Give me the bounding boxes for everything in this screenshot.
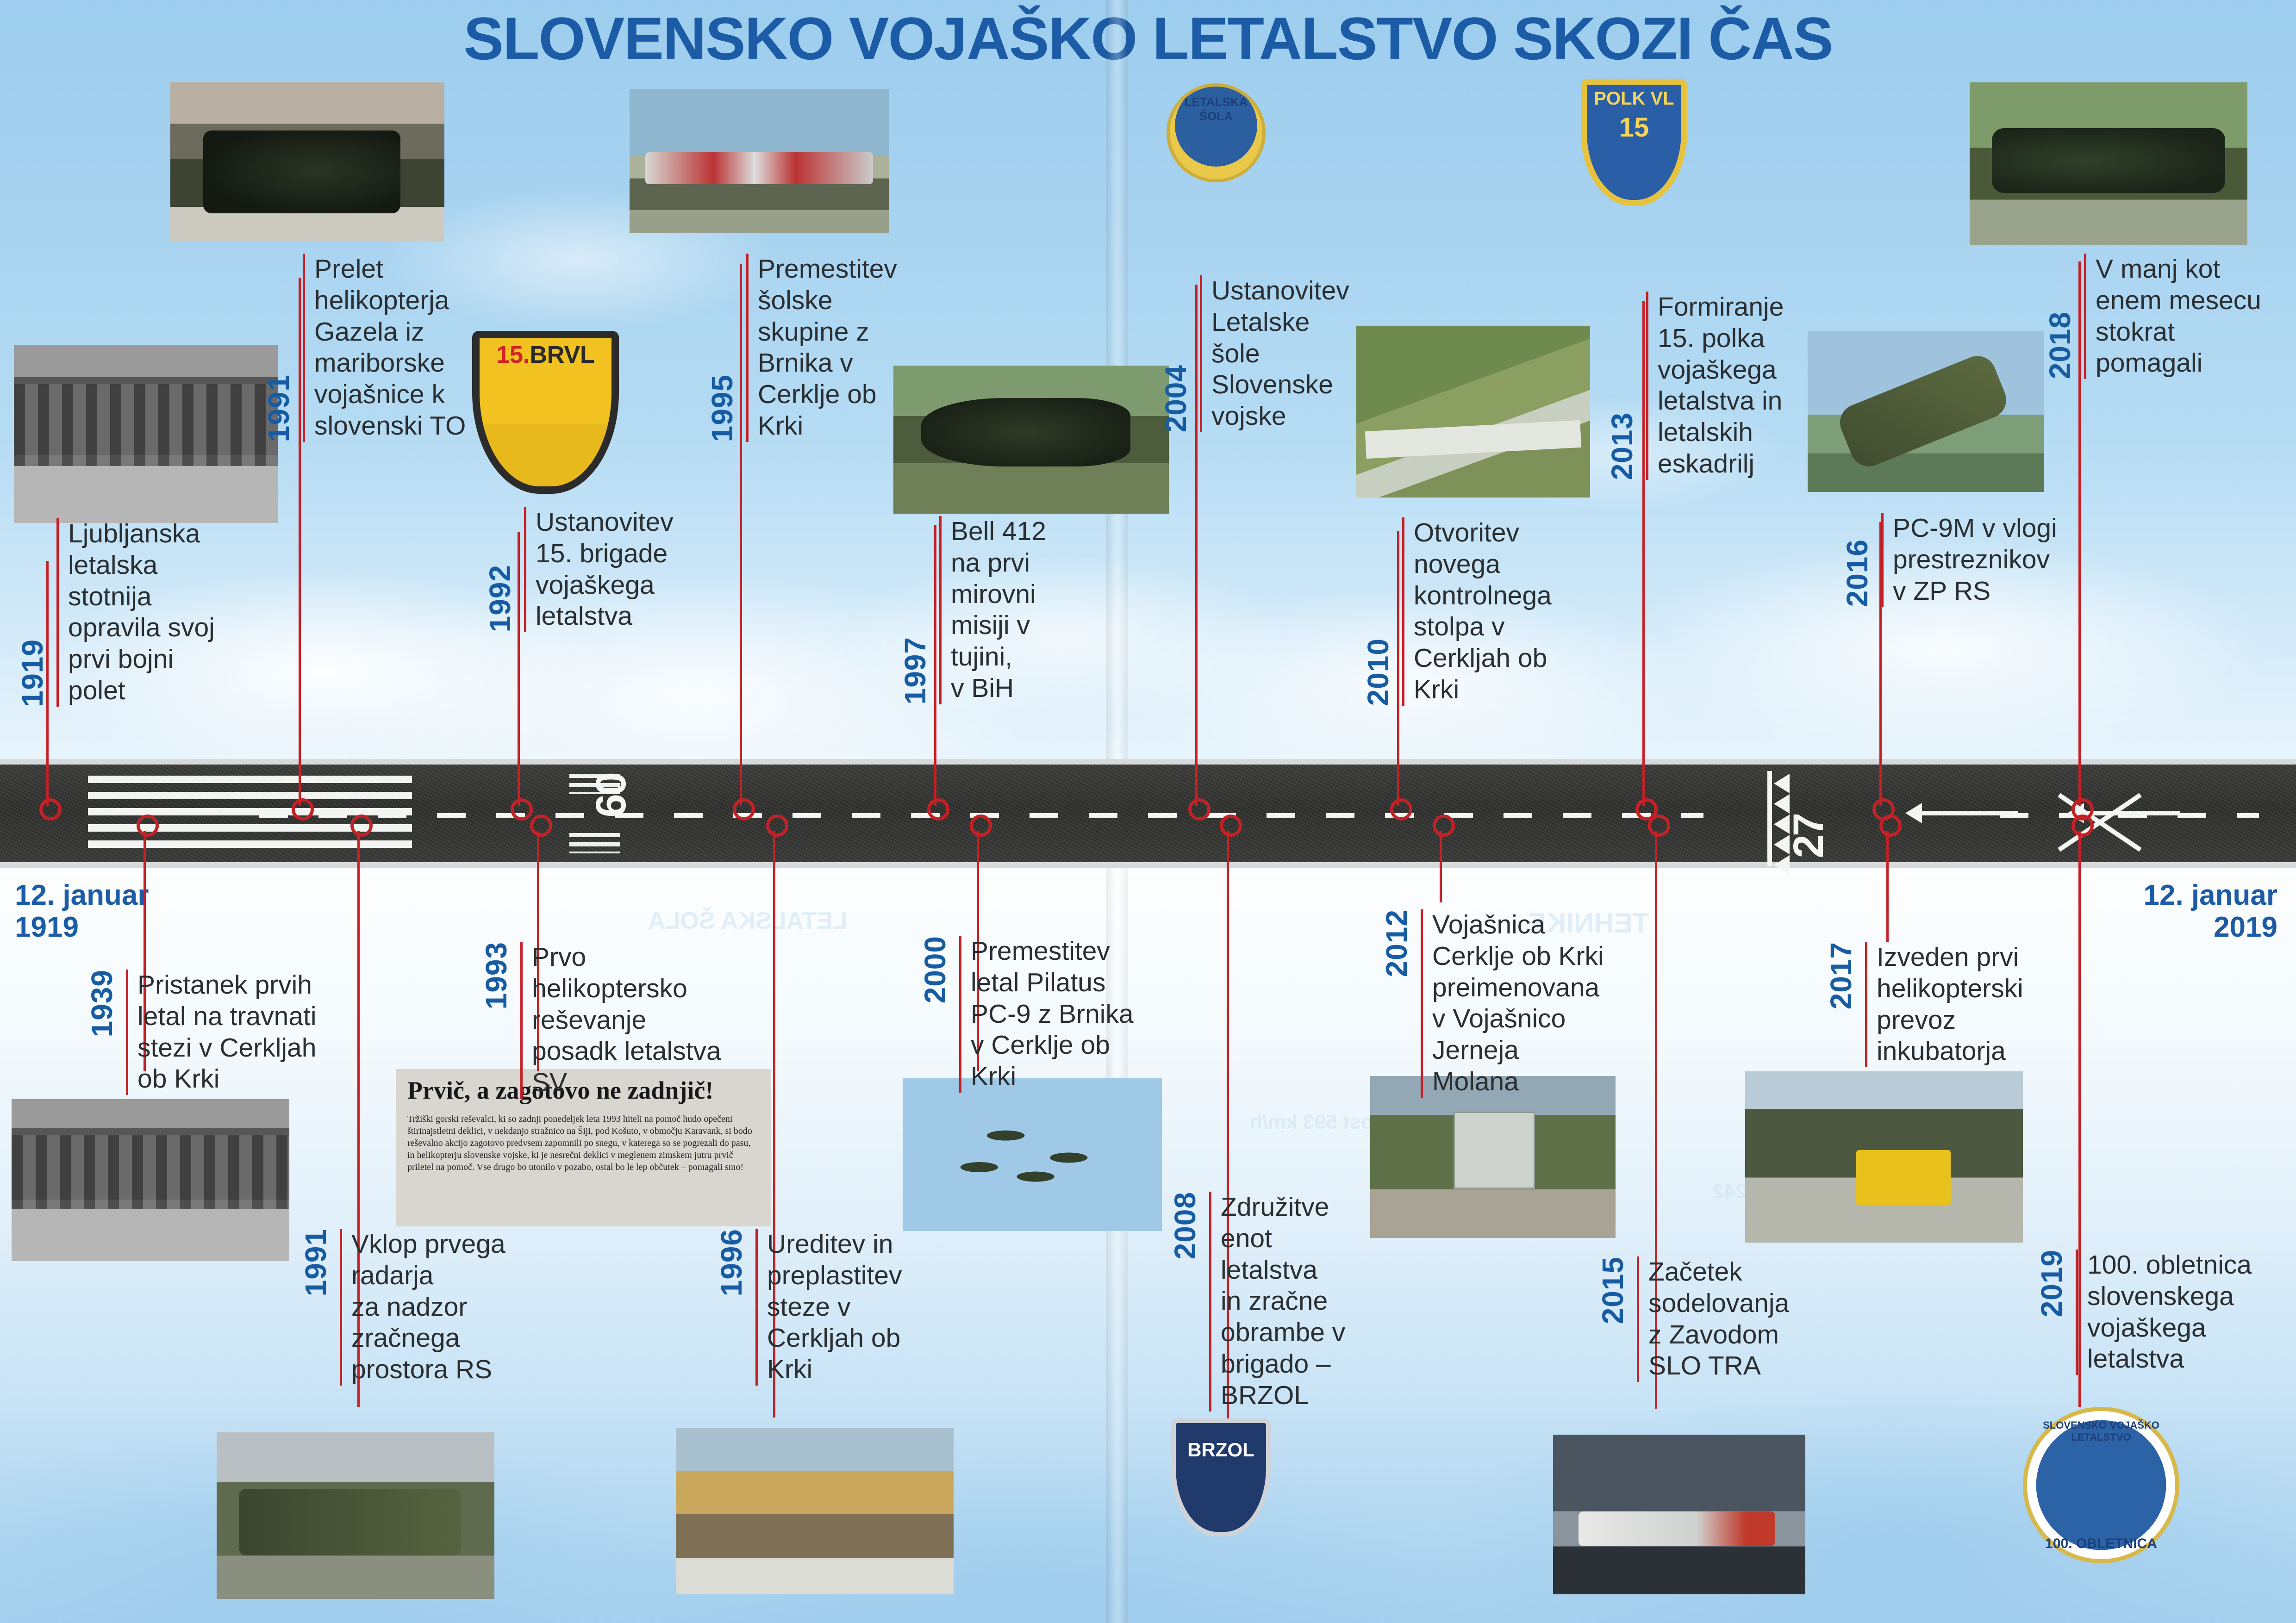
connector-dot [970, 815, 992, 837]
entry-bar [1881, 513, 1884, 607]
photo-jets-on-apron [630, 89, 889, 233]
timeline-entry-1997[interactable]: 1997 Bell 412 na prvi mirovni misiji v t… [900, 516, 1046, 704]
runway-designator-27: 27 [1784, 815, 1833, 858]
entry-text: Formiranje 15. polka vojaškega letalstva… [1658, 292, 1784, 480]
entry-bar [56, 518, 59, 707]
entry-bar [340, 1229, 342, 1386]
connector-dot [350, 815, 373, 837]
letalska-sola-crest: LETALSKA ŠOLA [1167, 83, 1266, 182]
entry-year: 2010 [1363, 638, 1393, 706]
connector-dot [1879, 815, 1902, 837]
timeline-entry-2018[interactable]: 2018 V manj kot enem mesecu stokrat poma… [2045, 254, 2261, 379]
runway-closed-x-marking [2051, 787, 2143, 856]
entry-text: Otvoritev novega kontrolnega stolpa v Ce… [1414, 517, 1552, 706]
entry-text: Pristanek prvih letal na travnati stezi … [137, 970, 317, 1095]
entry-year: 2015 [1598, 1256, 1628, 1324]
photo-hangar-gazela [170, 82, 444, 242]
entry-year: 1993 [481, 942, 511, 1009]
timeline-entry-2019[interactable]: 2019 100. obletnica slovenskega vojaškeg… [2037, 1250, 2252, 1375]
runway-chevron-icon [1774, 774, 1790, 793]
connector-line [1886, 831, 1889, 942]
entry-bar [1865, 942, 1867, 1067]
start-date: 12. januar 1919 [15, 879, 149, 944]
entry-bar [1402, 517, 1404, 706]
photo-pc9-formation [903, 1078, 1162, 1231]
entry-bar [2084, 254, 2086, 379]
entry-year: 1996 [717, 1229, 746, 1296]
entry-bar [746, 254, 749, 442]
crest-label: BRZOL [1176, 1439, 1266, 1461]
runway-direction-arrow-icon [1921, 811, 2018, 815]
entry-year: 2000 [920, 936, 950, 1003]
timeline-entry-1919[interactable]: 1919 Ljubljanska letalska stotnija oprav… [18, 518, 215, 707]
entry-year: 2004 [1161, 365, 1191, 432]
entry-year: 1991 [264, 374, 293, 442]
crest-caption: 100. OBLETNICA [2045, 1536, 2157, 1552]
entry-bar [126, 970, 128, 1095]
runway-chevron-icon [1774, 855, 1790, 875]
end-date: 12. januar 2019 [2144, 879, 2277, 944]
timeline-entry-1939[interactable]: 1939 Pristanek prvih letal na travnati s… [87, 970, 317, 1095]
timeline-entry-2012[interactable]: 2012 Vojašnica Cerklje ob Krki preimenov… [1382, 909, 1604, 1098]
photo-runway-works [676, 1428, 954, 1594]
connector-dot [1648, 815, 1670, 837]
entry-year: 2016 [1842, 539, 1872, 607]
entry-year: 1997 [900, 637, 930, 704]
runway-edge-line [0, 759, 2296, 765]
entry-bar [1209, 1192, 1211, 1412]
entry-bar [755, 1229, 758, 1386]
photo-huey-helicopters [1970, 82, 2247, 245]
crest-number: 15. [496, 342, 530, 368]
runway-designator-60: 60 [587, 774, 636, 817]
crest-text: 15.BRVL [496, 341, 595, 369]
timeline-poster: LETALSKA ŠOLA TEHNIKE Največja hitrost 5… [0, 0, 2296, 1623]
end-date-day: 12. januar [2144, 879, 2277, 911]
entry-text: Ureditev in preplastitev steze v Cerklja… [767, 1229, 902, 1386]
connector-dot [1220, 815, 1242, 837]
entry-year: 2013 [1607, 412, 1637, 480]
runway-chevron-icon [1774, 835, 1790, 854]
connector-dot [1188, 798, 1210, 821]
entry-text: Združitve enot letalstva in zračne obram… [1221, 1192, 1345, 1412]
timeline-entry-2010[interactable]: 2010 Otvoritev novega kontrolnega stolpa… [1363, 517, 1552, 706]
photo-radar-truck [217, 1432, 494, 1599]
photo-honour-guards [1370, 1076, 1616, 1238]
connector-dot [1433, 815, 1455, 837]
connector-dot [1390, 798, 1412, 821]
entry-year: 1919 [18, 639, 47, 707]
entry-year: 2019 [2037, 1250, 2066, 1317]
runway-edge-line [0, 862, 2296, 868]
connector-dot [292, 798, 314, 821]
crest-number: 15 [1587, 112, 1681, 143]
connector-dot [530, 815, 552, 837]
connector-dot [137, 815, 159, 837]
end-date-year: 2019 [2144, 911, 2277, 943]
timeline-entry-2004[interactable]: 2004 Ustanovitev Letalske šole Slovenske… [1161, 275, 1349, 432]
entry-bar [959, 936, 961, 1093]
entry-bar [1200, 275, 1202, 432]
start-date-day: 12. januar [15, 879, 149, 911]
entry-text: Izveden prvi helikopterski prevoz inkuba… [1877, 942, 2023, 1067]
timeline-entry-1991-top[interactable]: 1991 Prelet helikopterja Gazela iz marib… [264, 254, 466, 442]
entry-bar [303, 254, 305, 442]
crest-ring-text: SLOVENSKO VOJAŠKO LETALSTVO [2027, 1419, 2175, 1443]
entry-year: 2008 [1170, 1192, 1200, 1259]
connector-dot [511, 798, 533, 821]
photo-pc9m-in-flight [1808, 331, 2044, 492]
crest-title: POLK VL [1587, 88, 1681, 109]
photo-bell-412-sfor [893, 366, 1169, 514]
connector-dot [733, 798, 755, 821]
entry-text: Premestitev šolske skupine z Brnika v Ce… [758, 254, 897, 442]
entry-text: Začetek sodelovanja z Zavodom SLO TRA [1648, 1256, 1789, 1382]
timeline-entry-1992[interactable]: 1992 Ustanovitev 15. brigade vojaškega l… [485, 507, 674, 632]
timeline-entry-1996[interactable]: 1996 Ureditev in preplastitev steze v Ce… [717, 1229, 902, 1386]
entry-year: 1995 [707, 374, 737, 442]
connector-dot [766, 815, 788, 837]
entry-bar [1646, 292, 1648, 480]
entry-text: V manj kot enem mesecu stokrat pomagali [2096, 254, 2261, 379]
timeline-entry-1993[interactable]: 1993 Prvo helikoptersko reševanje posadk… [481, 942, 721, 1099]
entry-text: Vojašnica Cerklje ob Krki preimenovana v… [1432, 909, 1604, 1098]
entry-text: PC-9M v vlogi prestreznikov v ZP RS [1893, 513, 2057, 607]
runway-chevron-bar [1767, 771, 1772, 866]
runway-threshold-bars [88, 776, 412, 850]
entry-bar [520, 942, 523, 1099]
newspaper-body: Tržiški gorski reševalci, ki so zadnji p… [407, 1113, 759, 1219]
entry-bar [2076, 1250, 2078, 1375]
photo-cerklje-airfield [1356, 326, 1590, 497]
timeline-entry-1995[interactable]: 1995 Premestitev šolske skupine z Brnika… [707, 254, 897, 442]
entry-text: Prvo helikoptersko reševanje posadk leta… [532, 942, 721, 1099]
page-title: SLOVENSKO VOJAŠKO LETALSTVO SKOZI ČAS [0, 4, 2296, 73]
entry-year: 2012 [1382, 909, 1411, 977]
timeline-entry-2015[interactable]: 2015 Začetek sodelovanja z Zavodom SLO T… [1598, 1256, 1789, 1382]
entry-text: Premestitev letal Pilatus PC-9 z Brnika … [971, 936, 1134, 1093]
entry-bar [524, 507, 526, 632]
entry-text: Vklop prvega radarja za nadzor zračnega … [351, 1229, 505, 1386]
photo-1919-crew-bw [14, 345, 278, 523]
photo-jet-and-fire-truck [1553, 1435, 1805, 1594]
entry-bar [1637, 1256, 1639, 1382]
entry-year: 1939 [87, 970, 117, 1037]
timeline-entry-2017[interactable]: 2017 Izveden prvi helikopterski prevoz i… [1826, 942, 2023, 1067]
entry-year: 1992 [485, 565, 515, 632]
timeline-entry-2008[interactable]: 2008 Združitve enot letalstva in zračne … [1170, 1192, 1345, 1412]
entry-year: 2017 [1826, 942, 1856, 1009]
photo-1939-biplanes-bw [12, 1099, 289, 1261]
photo-incubator-transport [1745, 1071, 2023, 1243]
entry-year: 2018 [2045, 311, 2075, 379]
crest-label: LETALSKA ŠOLA [1170, 95, 1262, 124]
runway-chevron-icon [1774, 794, 1790, 814]
connector-line [1440, 831, 1442, 902]
entry-text: Prelet helikopterja Gazela iz mariborske… [314, 254, 466, 442]
entry-text: Ustanovitev 15. brigade vojaškega letals… [536, 507, 674, 632]
crest-abbrev: BRVL [530, 342, 595, 368]
timeline-entry-2000[interactable]: 2000 Premestitev letal Pilatus PC-9 z Br… [920, 936, 1134, 1093]
start-date-year: 1919 [15, 911, 149, 943]
runway-aiming-marker [569, 833, 620, 853]
entry-bar [939, 516, 942, 704]
connector-dot [927, 798, 949, 821]
100-obletnica-crest: SLOVENSKO VOJAŠKO LETALSTVO 100. OBLETNI… [2023, 1407, 2179, 1563]
entry-text: Ustanovitev Letalske šole Slovenske vojs… [1211, 275, 1349, 432]
timeline-entry-1991-bottom[interactable]: 1991 Vklop prvega radarja za nadzor zrač… [301, 1229, 505, 1386]
entry-text: Ljubljanska letalska stotnija opravila s… [68, 518, 215, 707]
connector-dot [2071, 815, 2094, 837]
entry-year: 1991 [301, 1229, 331, 1296]
runway-chevron-icon [1774, 815, 1790, 834]
entry-text: Bell 412 na prvi mirovni misiji v tujini… [951, 516, 1046, 704]
timeline-entry-2013[interactable]: 2013 Formiranje 15. polka vojaškega leta… [1607, 292, 1784, 480]
entry-bar [1421, 909, 1423, 1098]
timeline-entry-2016[interactable]: 2016 PC-9M v vlogi prestreznikov v ZP RS [1842, 513, 2057, 607]
entry-text: 100. obletnica slovenskega vojaškega let… [2087, 1250, 2252, 1375]
connector-dot [39, 798, 62, 821]
